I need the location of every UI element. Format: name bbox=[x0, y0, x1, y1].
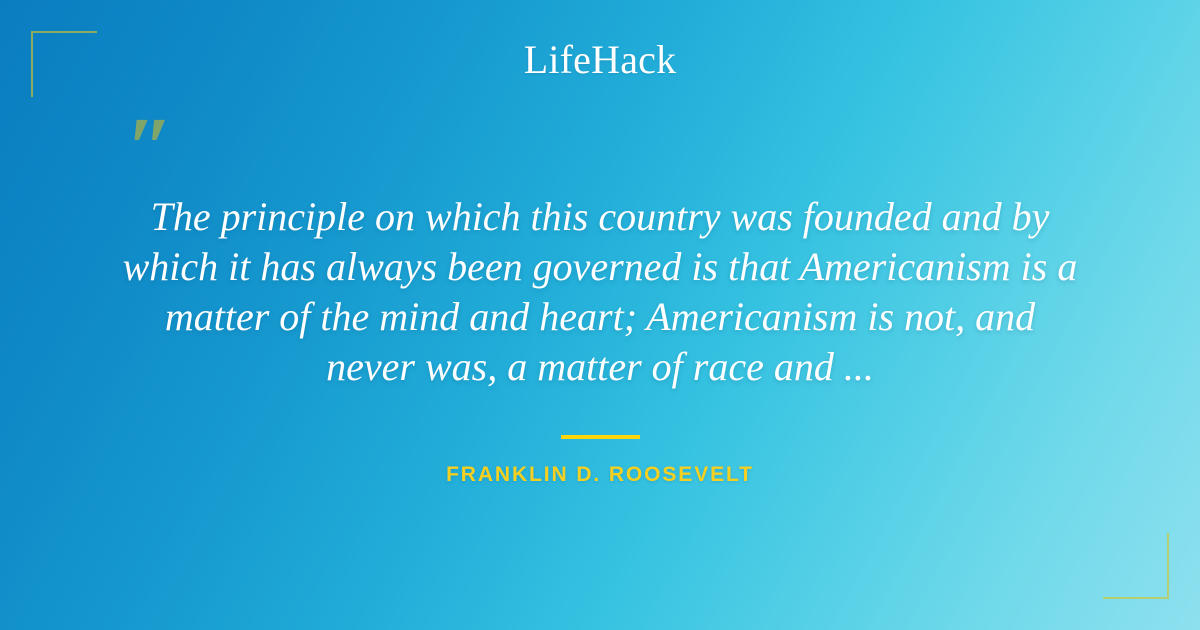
quotation-mark-icon: ″ bbox=[126, 104, 174, 190]
quote-author: FRANKLIN D. ROOSEVELT bbox=[0, 462, 1200, 488]
divider-rule bbox=[561, 435, 640, 439]
quote-line: which it has always been governed is tha… bbox=[70, 242, 1130, 292]
quote-line: The principle on which this country was … bbox=[70, 192, 1130, 242]
corner-bracket-bottom-right-icon bbox=[1103, 533, 1169, 599]
brand-logo: LifeHack bbox=[0, 36, 1200, 84]
quote-text: The principle on which this country was … bbox=[70, 192, 1130, 392]
quote-line: never was, a matter of race and ... bbox=[70, 342, 1130, 392]
quote-line: matter of the mind and heart; Americanis… bbox=[70, 292, 1130, 342]
divider-container bbox=[0, 435, 1200, 439]
quote-card: LifeHack ″ The principle on which this c… bbox=[0, 0, 1200, 630]
